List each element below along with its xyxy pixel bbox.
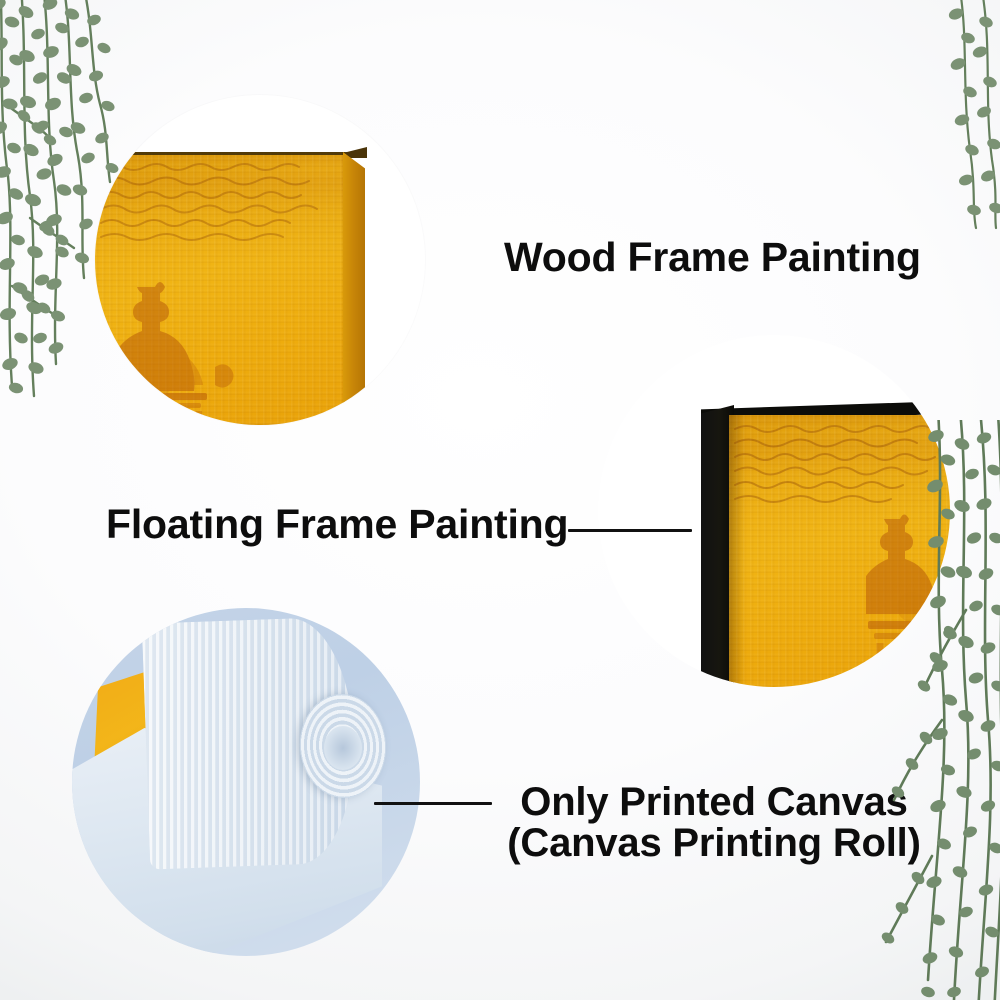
temple-dome-motif [103, 275, 273, 425]
poster-canvas: Wood Frame Painting Floating Frame Paint… [0, 0, 1000, 1000]
frame-depth-side [343, 152, 365, 425]
label-canvas-line1: Only Printed Canvas [520, 780, 907, 824]
label-floating-frame-painting: Floating Frame Painting [106, 504, 568, 546]
label-canvas-line2: (Canvas Printing Roll) [494, 823, 934, 864]
canvas-roll-illustration [72, 608, 420, 956]
canvas-texture-script [731, 419, 950, 511]
wood-frame-painting-photo [95, 95, 425, 425]
roll-core-hole [324, 726, 362, 770]
floating-frame-illustration [598, 335, 950, 687]
canvas-roll-photo [72, 608, 420, 956]
hanging-vine-right-top [938, 0, 1000, 230]
label-wood-frame-painting: Wood Frame Painting [504, 237, 921, 279]
canvas-texture-script [95, 155, 345, 245]
leader-line-canvas-roll [374, 802, 492, 805]
label-only-printed-canvas: Only Printed Canvas (Canvas Printing Rol… [494, 782, 934, 864]
floating-frame-painting-photo [598, 335, 950, 687]
leader-line-floating-frame [568, 529, 692, 532]
wood-frame-illustration [95, 95, 425, 425]
temple-dome-motif [866, 511, 950, 687]
